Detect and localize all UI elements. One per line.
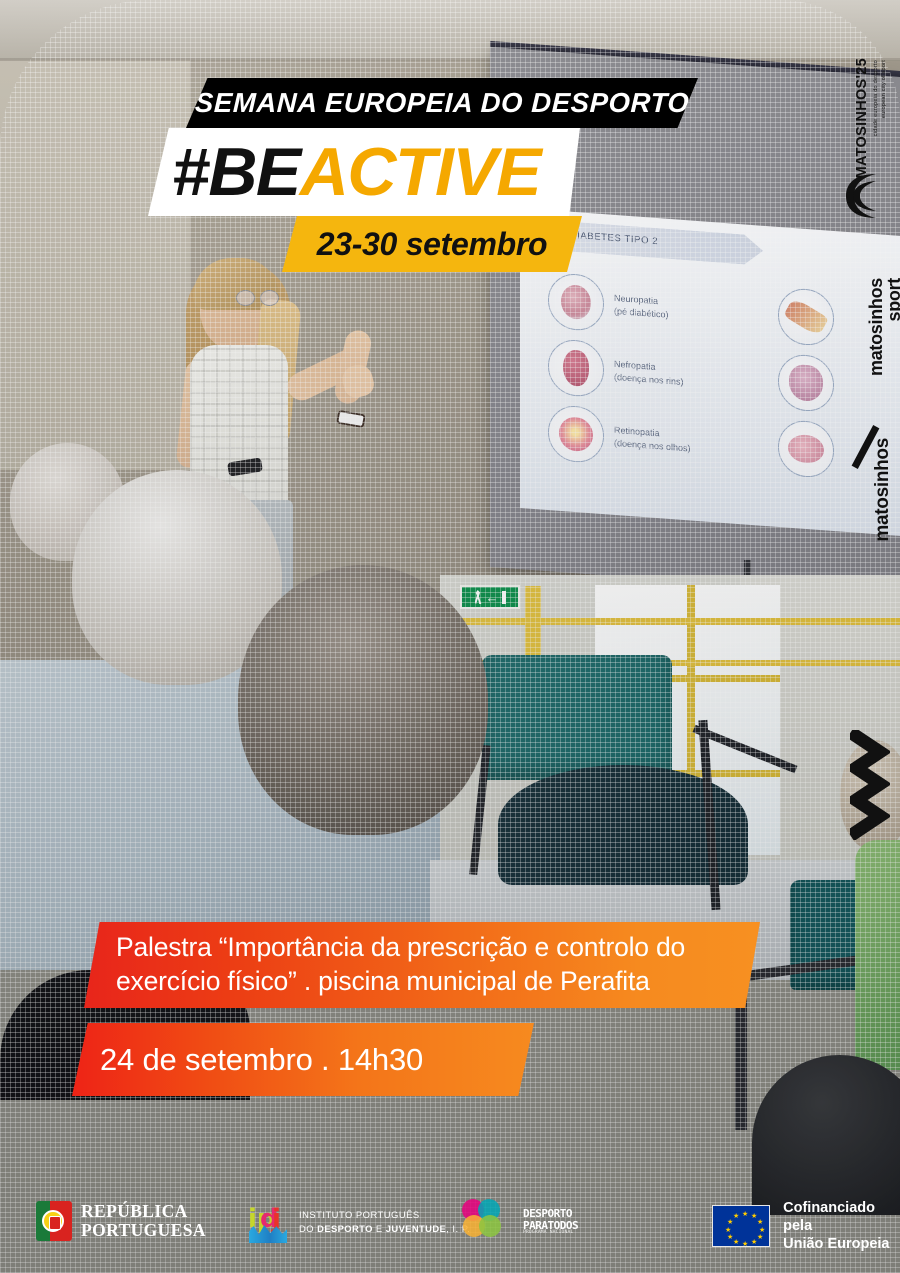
desporto-para-todos-text: DESPORTO PARATODOS PROGRAMA NACIONAL [523,1208,578,1237]
matosinhos-line-3: matosinhos [872,438,894,542]
eu-cofinancing-logo: ★ ★ ★ ★ ★ ★ ★ ★ ★ ★ ★ ★ Cofinanciado pel… [712,1199,900,1253]
eu-cofinancing-text: Cofinanciado pela União Europeia [783,1199,900,1253]
poster: ... DO DIABETES TIPO 2 Neuropatia (pé di… [0,0,900,1273]
republica-portuguesa-logo: REPÚBLICA PORTUGUESA [36,1201,206,1241]
event-title-line-1: Palestra “Importância da prescrição e co… [116,931,760,965]
matosinhos-sport-logo: matosinhos sport matosinhos [836,278,896,578]
matosinhos25-logo: MATOSINHOS'25 cidade europeia do desport… [836,58,894,258]
matosinhos-sport-line-2: sport [884,278,900,322]
page-title: #BEACTIVE [172,138,540,206]
title-band: #BEACTIVE [148,128,580,216]
header-band-text: SEMANA EUROPEIA DO DESPORTO [194,87,690,119]
footer-logos: REPÚBLICA PORTUGUESA ip d j INSTITUTO PO… [0,1173,900,1273]
event-title-banner: Palestra “Importância da prescrição e co… [84,922,760,1008]
title-hashtag-be: #BE [172,134,300,210]
title-active: ACTIVE [300,134,540,210]
matosinhos25-subtitle-en: european city of sport [880,60,888,118]
ipdj-mark-icon: ip d j [246,1200,290,1244]
date-range-band: 23-30 setembro [282,216,582,272]
desporto-para-todos-logo: DESPORTO PARATODOS PROGRAMA NACIONAL [462,1199,578,1245]
event-title-line-2: exercício físico” . piscina municipal de… [116,965,760,999]
republica-portuguesa-text: REPÚBLICA PORTUGUESA [81,1202,206,1240]
portugal-shield-icon [36,1201,72,1241]
matosinhos25-subtitle: cidade europeia do desporto [872,60,880,136]
swoosh-icon [842,170,882,222]
event-datetime-banner: 24 de setembro . 14h30 [72,1023,534,1096]
eu-flag-icon: ★ ★ ★ ★ ★ ★ ★ ★ ★ ★ ★ ★ [712,1205,770,1247]
event-datetime-text: 24 de setembro . 14h30 [100,1042,423,1078]
date-range-text: 23-30 setembro [317,226,548,263]
ipdj-text: INSTITUTO PORTUGUÊS DO DESPORTO E JUVENT… [299,1208,470,1236]
overlapping-circles-icon [462,1199,514,1245]
ipdj-logo: ip d j INSTITUTO PORTUGUÊS DO DESPORTO E… [246,1200,470,1244]
matosinhos25-name: MATOSINHOS'25 [854,58,870,178]
header-band: SEMANA EUROPEIA DO DESPORTO [186,78,698,128]
zigzag-wave-icon [850,730,890,840]
